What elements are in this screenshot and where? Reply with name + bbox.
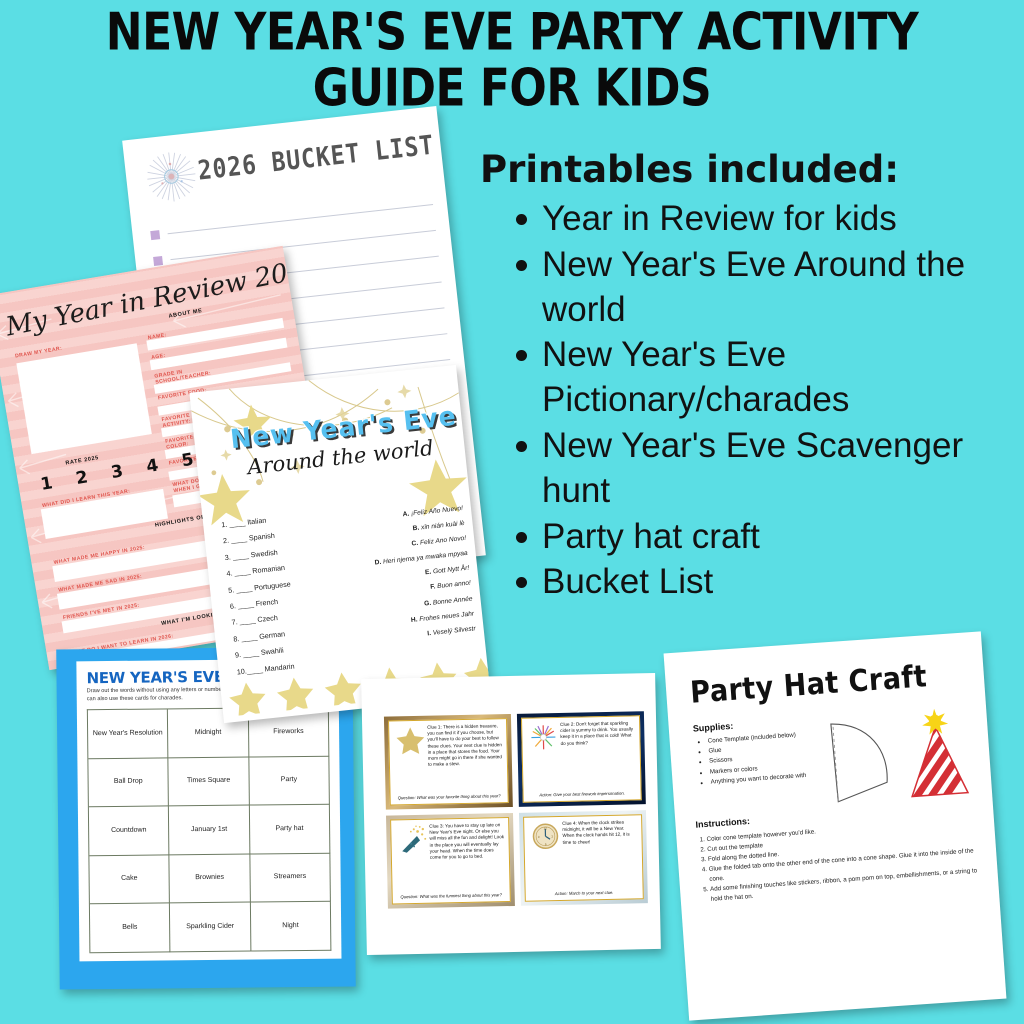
answer-phrase: Bonne Année bbox=[433, 595, 473, 606]
clue-footer: Question: What was the funniest thing ab… bbox=[397, 892, 506, 900]
answer-phrase: Frohes neues Jahr bbox=[419, 610, 474, 623]
list-item: New Year's Eve Pictionary/charades bbox=[516, 333, 1024, 423]
printables-list: Year in Review for kids New Year's Eve A… bbox=[468, 197, 1024, 605]
svg-text:12: 12 bbox=[544, 826, 548, 830]
page-title: New Year's Eve Party Activity Guide for … bbox=[0, 8, 1024, 106]
clue-body: Clue 4: When the clock strikes midnight,… bbox=[562, 819, 638, 845]
clue-card-inner: Clue 1: There is a hidden treasure, you … bbox=[388, 718, 509, 805]
clue-card-text: Clue 4: When the clock strikes midnight,… bbox=[562, 819, 638, 845]
table-cell[interactable]: January 1st bbox=[169, 806, 250, 855]
clue-body: Clue 1: There is a hidden treasure, you … bbox=[427, 723, 503, 768]
clue-card[interactable]: Clue 2: Don't forget that sparkling cide… bbox=[517, 711, 646, 807]
clue-card[interactable]: 12 3 6 9 Clue 4: When the clock strikes … bbox=[519, 810, 648, 906]
clue-card-text: Clue 3: You have to stay up late on New … bbox=[429, 822, 505, 861]
party-hat-illustration bbox=[896, 706, 979, 807]
table-cell[interactable]: Times Square bbox=[169, 757, 250, 806]
answer-phrase: Heri njema ya mwaka mpyaa bbox=[383, 550, 468, 566]
around-the-world-printable: New Year's Eve Around the world 1. ____ … bbox=[189, 365, 490, 723]
printables-section: Printables included: Year in Review for … bbox=[468, 148, 1024, 606]
cone-template-shape bbox=[821, 716, 897, 809]
answer-letter: I. bbox=[427, 630, 431, 637]
table-cell[interactable]: Party bbox=[249, 756, 330, 805]
firework-icon bbox=[139, 145, 203, 209]
table-cell[interactable]: Party hat bbox=[250, 805, 331, 854]
instructions-heading: Instructions: bbox=[695, 816, 750, 830]
clue-card[interactable]: Clue 3: You have to stay up late on New … bbox=[386, 813, 515, 909]
answer-list: A. ¡Feliz Año Nuevo! B. xīn nián kuài lè… bbox=[313, 505, 476, 656]
clue-footer: Action: March to your next clue. bbox=[530, 889, 639, 897]
clue-body: Clue 2: Don't forget that sparkling cide… bbox=[560, 720, 636, 746]
checkbox-square[interactable] bbox=[153, 256, 163, 266]
answer-phrase: xīn nián kuài lè bbox=[421, 520, 465, 532]
page-title-line-1: New Year's Eve Party Activity bbox=[0, 8, 1024, 58]
list-item: New Year's Eve Scavenger hunt bbox=[516, 424, 1024, 514]
table-cell[interactable]: Brownies bbox=[170, 854, 251, 903]
pictionary-title: NEW YEAR'S EVE bbox=[86, 668, 224, 687]
clue-card-text: Clue 1: There is a hidden treasure, you … bbox=[427, 723, 503, 768]
table-cell[interactable]: Night bbox=[251, 902, 332, 951]
clue-card-inner: Clue 2: Don't forget that sparkling cide… bbox=[521, 715, 642, 802]
table-cell[interactable]: New Year's Resolution bbox=[88, 709, 169, 758]
table-cell[interactable]: Sparkling Cider bbox=[170, 903, 251, 952]
page-title-line-2: Guide for Kids bbox=[0, 64, 1024, 114]
table-cell[interactable]: Cake bbox=[89, 855, 170, 904]
pictionary-grid: New Year's Resolution Midnight Fireworks… bbox=[87, 707, 332, 954]
supplies-heading: Supplies: bbox=[693, 721, 734, 734]
table-cell[interactable]: Streamers bbox=[250, 853, 331, 902]
star-icon bbox=[393, 725, 428, 756]
clue-footer: Question: What was your favorite thing a… bbox=[395, 793, 504, 801]
answer-phrase: Buon anno! bbox=[437, 580, 471, 590]
answer-letter: E. bbox=[425, 569, 432, 577]
answer-letter: H. bbox=[411, 616, 418, 624]
answer-phrase: Veselý Silvestr bbox=[432, 625, 475, 636]
table-cell[interactable]: Bells bbox=[90, 904, 171, 953]
answer-letter: A. bbox=[402, 511, 409, 519]
firework-icon bbox=[526, 722, 561, 753]
party-hat-craft-printable: Party Hat Craft Supplies: Cone Template … bbox=[664, 631, 1007, 1020]
answer-letter: B. bbox=[412, 525, 419, 533]
scavenger-hunt-printable: Clue 1: There is a hidden treasure, you … bbox=[361, 673, 661, 955]
instructions-list: Color cone template however you'd like. … bbox=[696, 816, 978, 905]
checkbox-square[interactable] bbox=[150, 230, 160, 240]
list-item: Party hat craft bbox=[516, 515, 1024, 560]
bucket-list-title: 2026 BUCKET LIST bbox=[196, 131, 435, 187]
clue-footer: Action: Give your best firework imperson… bbox=[528, 790, 637, 798]
party-popper-icon bbox=[395, 824, 430, 855]
clue-card-grid: Clue 1: There is a hidden treasure, you … bbox=[384, 711, 648, 908]
table-cell[interactable]: Ball Drop bbox=[88, 758, 169, 807]
clock-icon: 12 3 6 9 bbox=[528, 821, 563, 852]
clue-card-text: Clue 2: Don't forget that sparkling cide… bbox=[560, 720, 636, 746]
answer-letter: D. bbox=[374, 559, 381, 567]
answer-phrase: ¡Feliz Año Nuevo! bbox=[411, 505, 464, 517]
answer-phrase: Feliz Ano Novo! bbox=[420, 535, 467, 547]
answer-letter: G. bbox=[424, 599, 432, 607]
party-hat-title: Party Hat Craft bbox=[689, 659, 928, 710]
answer-phrase: Gott Nytt År! bbox=[433, 565, 470, 576]
answer-letter: F. bbox=[430, 584, 436, 591]
list-item: Bucket List bbox=[516, 560, 1024, 605]
clue-body: Clue 3: You have to stay up late on New … bbox=[429, 822, 505, 861]
answer-letter: C. bbox=[411, 540, 418, 548]
list-item: New Year's Eve Around the world bbox=[516, 243, 1024, 333]
list-item: Year in Review for kids bbox=[516, 197, 1024, 242]
clue-card-inner: Clue 3: You have to stay up late on New … bbox=[390, 817, 511, 904]
table-cell[interactable]: Countdown bbox=[89, 807, 170, 856]
printables-heading: Printables included: bbox=[480, 148, 1024, 191]
clue-card-inner: 12 3 6 9 Clue 4: When the clock strikes … bbox=[523, 814, 644, 901]
clue-card[interactable]: Clue 1: There is a hidden treasure, you … bbox=[384, 714, 513, 810]
